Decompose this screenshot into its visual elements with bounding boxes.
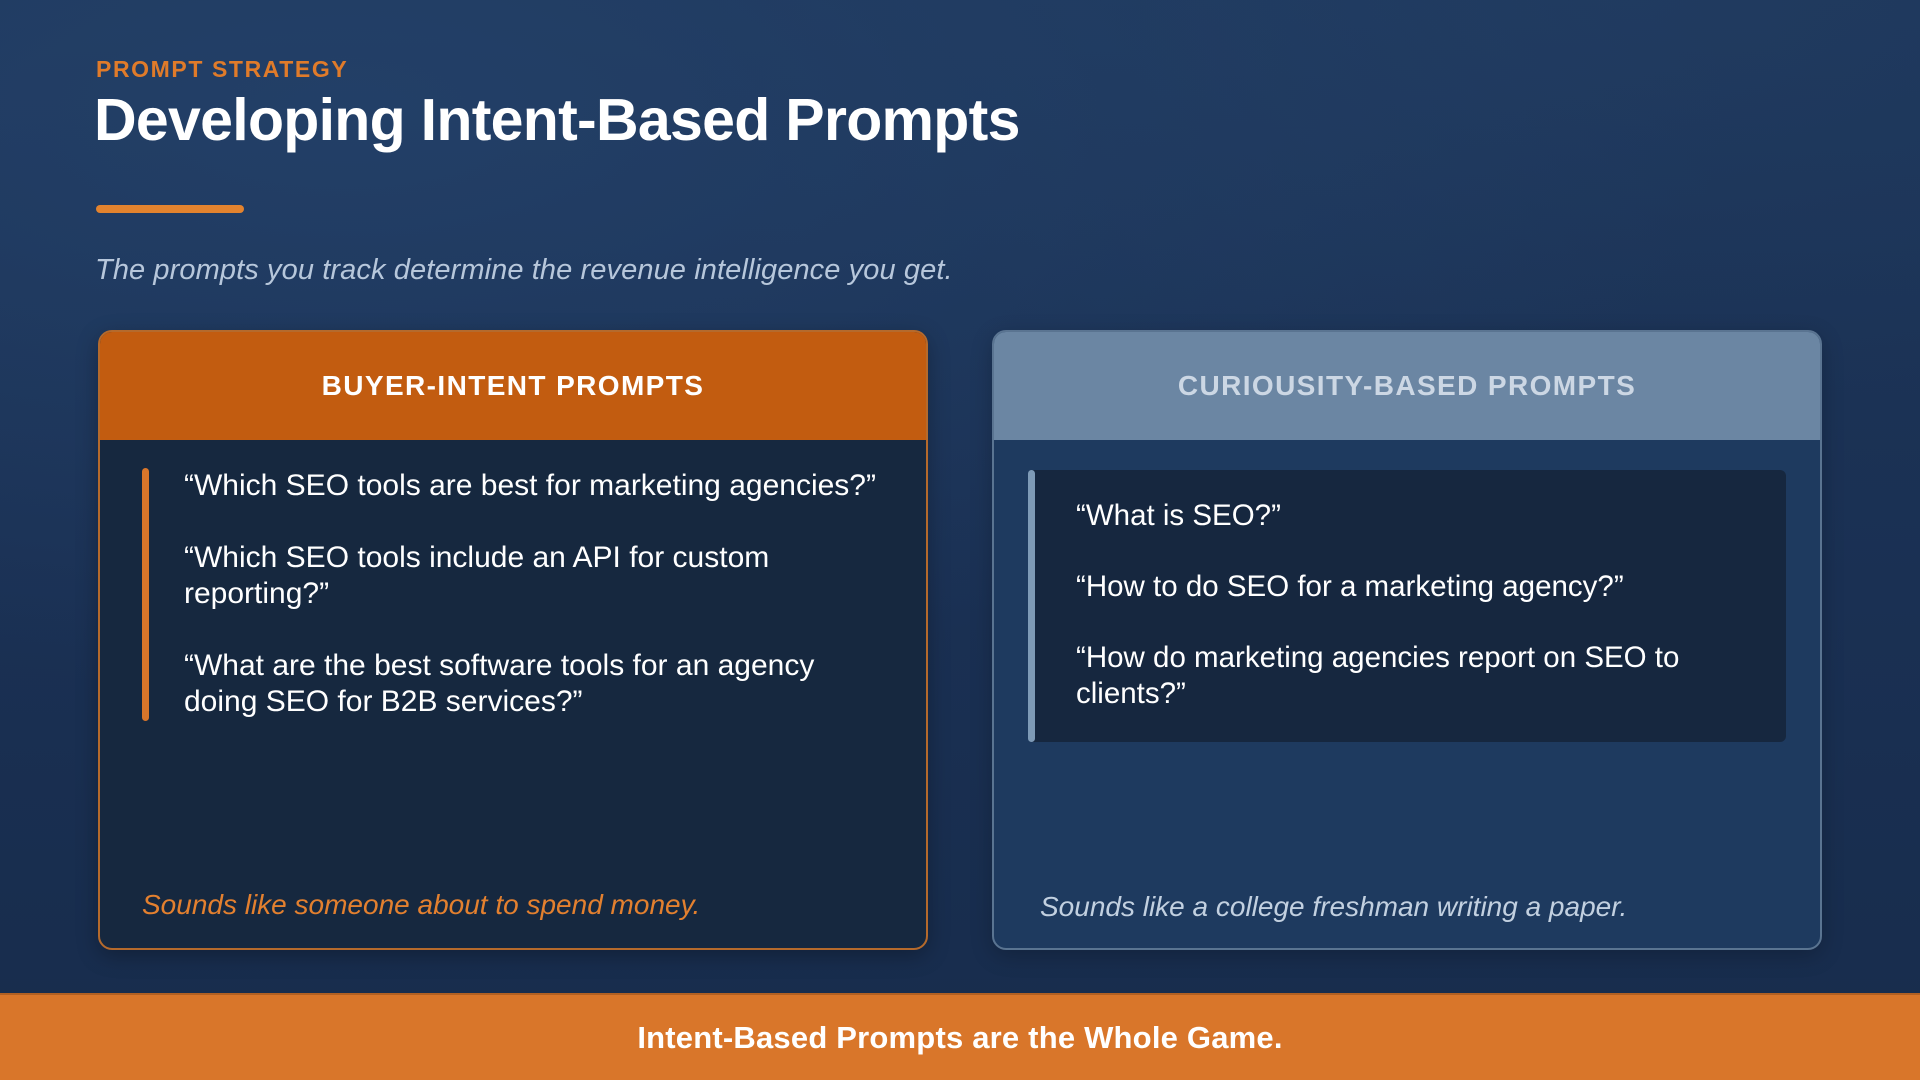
list-item: “How to do SEO for a marketing agency?” xyxy=(1076,569,1756,605)
curiosity-based-quote-list: “What is SEO?” “How to do SEO for a mark… xyxy=(1028,470,1786,742)
card-curiosity-based-caption: Sounds like a college freshman writing a… xyxy=(1040,890,1788,924)
card-buyer-intent-body: “Which SEO tools are best for marketing … xyxy=(100,440,926,948)
title-underline-rule xyxy=(96,205,244,213)
list-item: “Which SEO tools are best for marketing … xyxy=(184,468,884,505)
card-buyer-intent-caption: Sounds like someone about to spend money… xyxy=(142,888,890,922)
slide-stage: PROMPT STRATEGY Developing Intent-Based … xyxy=(0,0,1920,1080)
card-curiosity-based-body: “What is SEO?” “How to do SEO for a mark… xyxy=(994,440,1820,948)
bottom-banner-text: Intent-Based Prompts are the Whole Game. xyxy=(637,1020,1282,1056)
bottom-banner: Intent-Based Prompts are the Whole Game. xyxy=(0,993,1920,1080)
list-item: “Which SEO tools include an API for cust… xyxy=(184,540,884,613)
card-curiosity-based: CURIOUSITY-BASED PROMPTS “What is SEO?” … xyxy=(992,330,1822,950)
card-buyer-intent: BUYER-INTENT PROMPTS “Which SEO tools ar… xyxy=(98,330,928,950)
card-buyer-intent-heading: BUYER-INTENT PROMPTS xyxy=(100,332,926,440)
buyer-intent-quote-list: “Which SEO tools are best for marketing … xyxy=(142,468,884,721)
list-item: “How do marketing agencies report on SEO… xyxy=(1076,640,1756,712)
list-item: “What are the best software tools for an… xyxy=(184,648,884,721)
accent-bar-steel xyxy=(1028,470,1035,742)
page-title: Developing Intent-Based Prompts xyxy=(94,86,1020,154)
list-item: “What is SEO?” xyxy=(1076,498,1756,534)
accent-bar-orange xyxy=(142,468,149,721)
eyebrow-label: PROMPT STRATEGY xyxy=(96,56,348,83)
comparison-cards: BUYER-INTENT PROMPTS “Which SEO tools ar… xyxy=(98,330,1822,950)
card-curiosity-based-heading: CURIOUSITY-BASED PROMPTS xyxy=(994,332,1820,440)
page-subtitle: The prompts you track determine the reve… xyxy=(95,254,953,287)
